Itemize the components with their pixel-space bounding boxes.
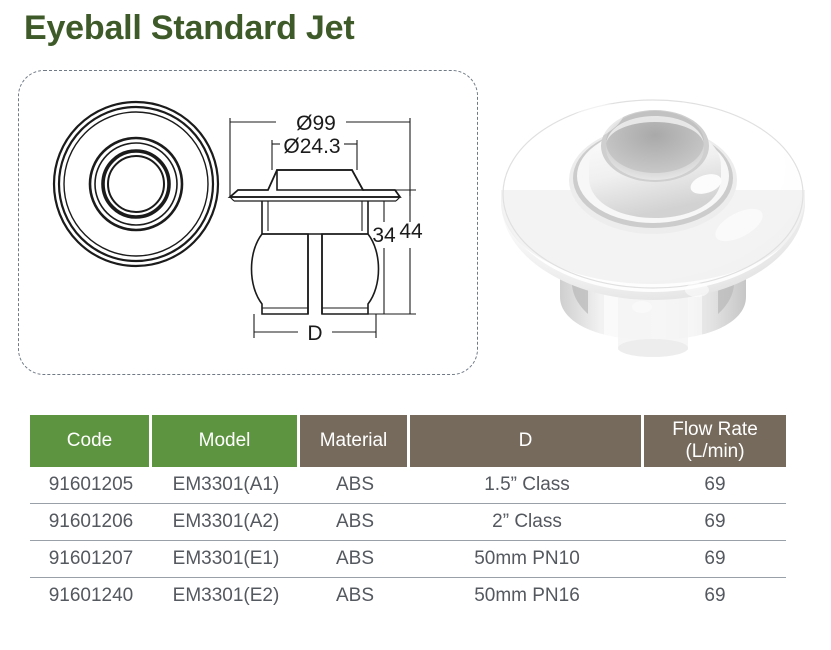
product-photo <box>492 62 814 392</box>
dimension-bottom-width: D <box>307 322 322 345</box>
flow-rate-line1: Flow Rate <box>644 419 786 441</box>
page-title: Eyeball Standard Jet <box>24 6 354 50</box>
cell-code: 91601206 <box>30 504 152 541</box>
dimension-outer-diameter: Ø99 <box>296 112 336 135</box>
cell-d: 50mm PN10 <box>410 541 644 578</box>
cell-model: EM3301(E1) <box>152 541 300 578</box>
cell-code: 91601207 <box>30 541 152 578</box>
cell-flow: 69 <box>644 541 786 578</box>
table-header-row: Code Model Material D Flow Rate (L/min) <box>30 415 786 467</box>
cell-code: 91601205 <box>30 467 152 504</box>
column-header-flow-rate: Flow Rate (L/min) <box>644 415 786 467</box>
table-row: 91601240 EM3301(E2) ABS 50mm PN16 69 <box>30 578 786 614</box>
table-row: 91601206 EM3301(A2) ABS 2” Class 69 <box>30 504 786 541</box>
specification-table: Code Model Material D Flow Rate (L/min) … <box>30 415 786 614</box>
cell-material: ABS <box>300 541 410 578</box>
cell-d: 1.5” Class <box>410 467 644 504</box>
cell-d: 2” Class <box>410 504 644 541</box>
column-header-d: D <box>410 415 644 467</box>
dimension-height-total: 44 <box>399 220 423 243</box>
cell-flow: 69 <box>644 467 786 504</box>
column-header-model: Model <box>152 415 300 467</box>
column-header-material: Material <box>300 415 410 467</box>
cell-d: 50mm PN16 <box>410 578 644 614</box>
column-header-code: Code <box>30 415 152 467</box>
cell-code: 91601240 <box>30 578 152 614</box>
cross-section-diagram: Ø99 Ø24.3 34 44 D <box>224 100 476 346</box>
table-row: 91601207 EM3301(E1) ABS 50mm PN10 69 <box>30 541 786 578</box>
front-view-diagram <box>50 98 222 270</box>
dimension-height-body: 34 <box>372 224 396 247</box>
cell-material: ABS <box>300 467 410 504</box>
cell-material: ABS <box>300 578 410 614</box>
cell-flow: 69 <box>644 578 786 614</box>
cell-model: EM3301(A2) <box>152 504 300 541</box>
flow-rate-line2: (L/min) <box>644 441 786 463</box>
cell-material: ABS <box>300 504 410 541</box>
table-row: 91601205 EM3301(A1) ABS 1.5” Class 69 <box>30 467 786 504</box>
cell-model: EM3301(A1) <box>152 467 300 504</box>
dimension-inner-diameter: Ø24.3 <box>283 135 340 158</box>
cell-flow: 69 <box>644 504 786 541</box>
cell-model: EM3301(E2) <box>152 578 300 614</box>
